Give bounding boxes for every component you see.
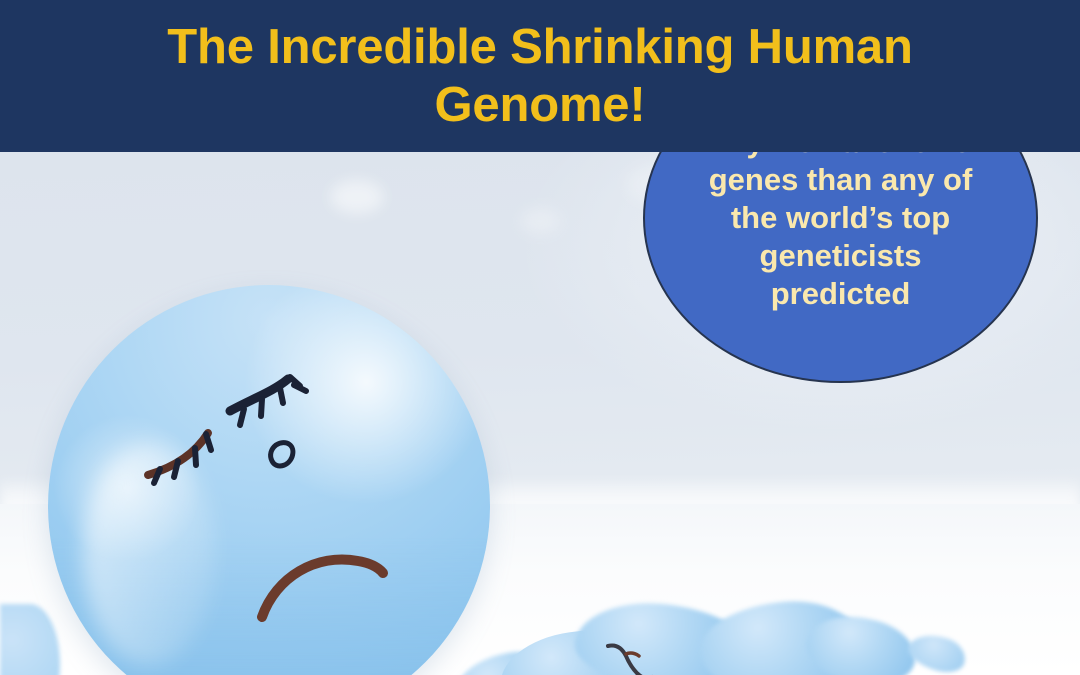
balloon-highlight bbox=[83, 444, 216, 665]
bokeh-highlight bbox=[330, 180, 384, 214]
title-banner: The Incredible Shrinking Human Genome! bbox=[0, 0, 1080, 152]
poster: Why we have fewer genes than any of the … bbox=[0, 0, 1080, 675]
bokeh-highlight bbox=[520, 208, 560, 234]
page-title: The Incredible Shrinking Human Genome! bbox=[70, 18, 1010, 134]
sad-balloon bbox=[48, 285, 490, 675]
